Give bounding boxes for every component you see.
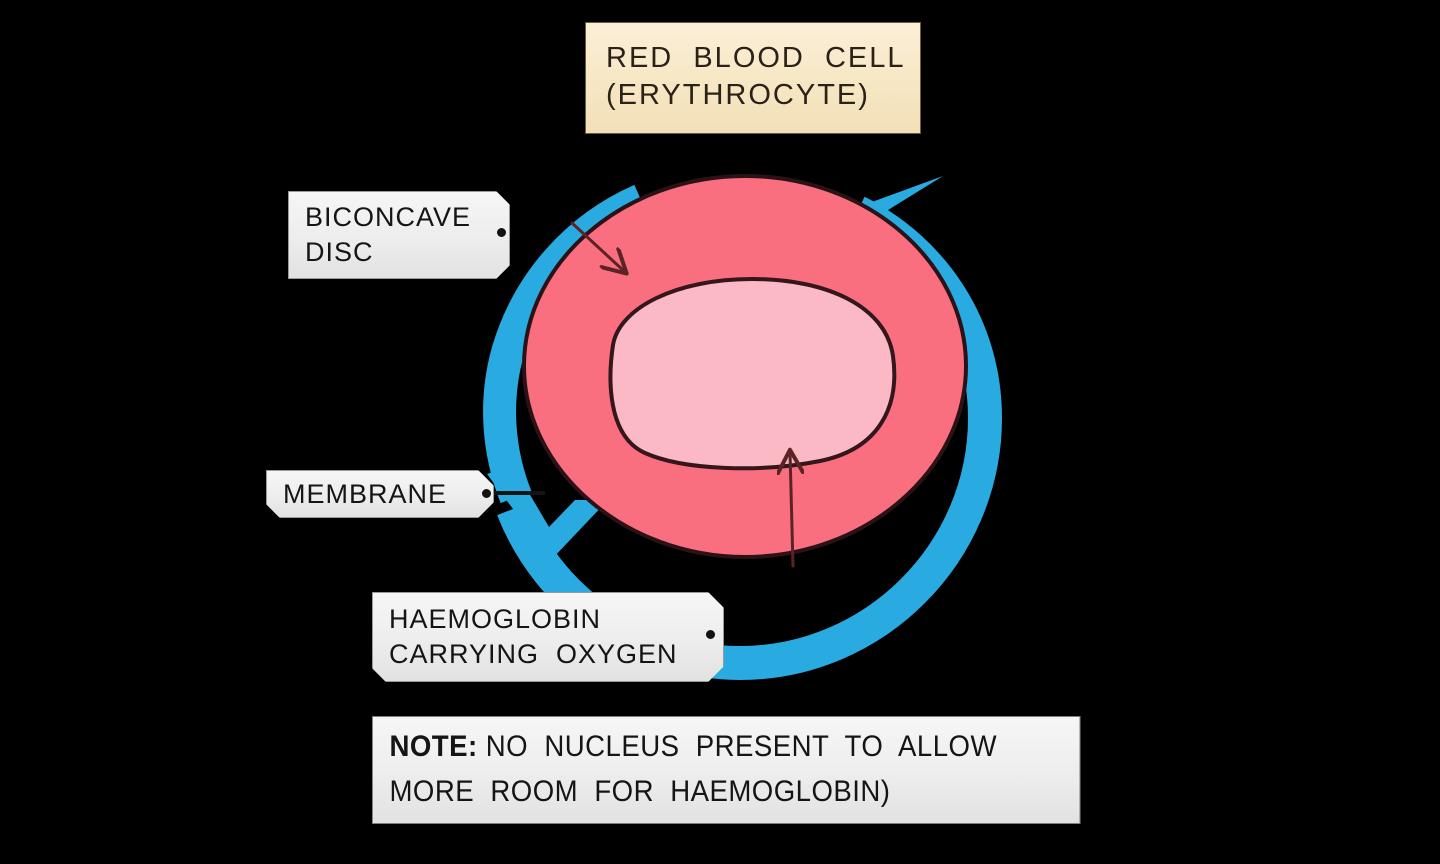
label-haemoglobin-carrying-oxygen: HAEMOGLOBIN CARRYING OXYGEN [372,592,724,682]
biconcave-connector-dot [497,228,506,237]
label-haemoglobin-line-1: HAEMOGLOBIN [389,602,709,637]
page-title: RED BLOOD CELL (ERYTHROCYTE) [585,22,921,134]
membrane-connector-dot [482,489,491,498]
note-keyword: NOTE: [389,730,477,763]
note-line-1: NOTE: NO NUCLEUS PRESENT TO ALLOW [389,724,1064,769]
note-line-2: MORE ROOM FOR HAEMOGLOBIN) [389,769,1064,814]
title-line-1: RED BLOOD CELL [606,40,906,77]
biconcave-depression [611,279,895,468]
label-haemoglobin-line-2: CARRYING OXYGEN [389,637,709,672]
note-line-1-text: NO NUCLEUS PRESENT TO ALLOW [478,730,997,763]
label-membrane-line-1: MEMBRANE [283,477,475,512]
label-biconcave-line-1: BICONCAVE [305,200,493,235]
title-line-2: (ERYTHROCYTE) [606,77,870,114]
label-biconcave-disc: BICONCAVE DISC [288,191,510,279]
haemoglobin-connector-dot [706,630,715,639]
note-box: NOTE: NO NUCLEUS PRESENT TO ALLOW MORE R… [372,716,1080,824]
label-biconcave-line-2: DISC [305,235,493,270]
label-membrane: MEMBRANE [266,470,494,518]
diagram-canvas: RED BLOOD CELL (ERYTHROCYTE) BICONCAVE D… [0,0,1440,864]
